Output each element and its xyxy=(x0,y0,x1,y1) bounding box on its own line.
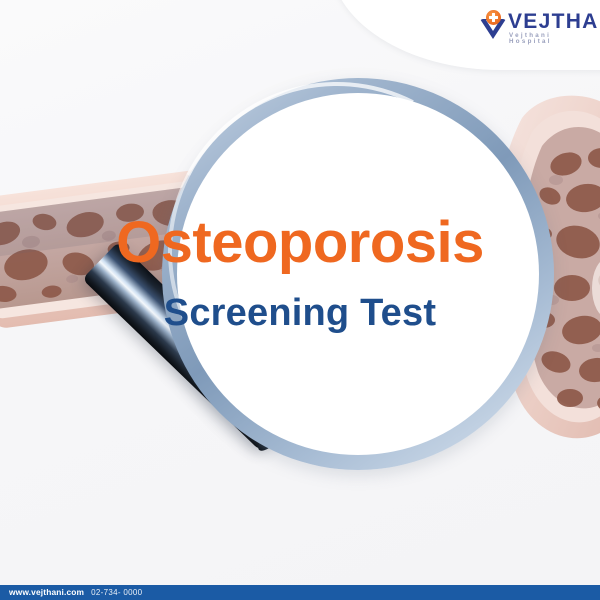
page-subtitle: Screening Test xyxy=(0,294,600,332)
poster-canvas: Osteoporosis Screening Test VEJTHANI Vej… xyxy=(0,0,600,600)
logo-mark xyxy=(478,10,512,40)
footer-phone[interactable]: 02-734- 0000 xyxy=(91,589,142,597)
page-title: Osteoporosis xyxy=(0,214,600,272)
logo-wordmark: VEJTHANI xyxy=(508,11,600,32)
footer-website[interactable]: www.vejthani.com xyxy=(9,588,84,596)
footer-bar: www.vejthani.com 02-734- 0000 xyxy=(0,585,600,600)
medical-cross-badge-icon xyxy=(486,10,501,25)
vejthani-logo[interactable]: VEJTHANI Vejthani Hospital xyxy=(478,6,588,46)
logo-subtitle: Vejthani Hospital xyxy=(509,33,588,45)
